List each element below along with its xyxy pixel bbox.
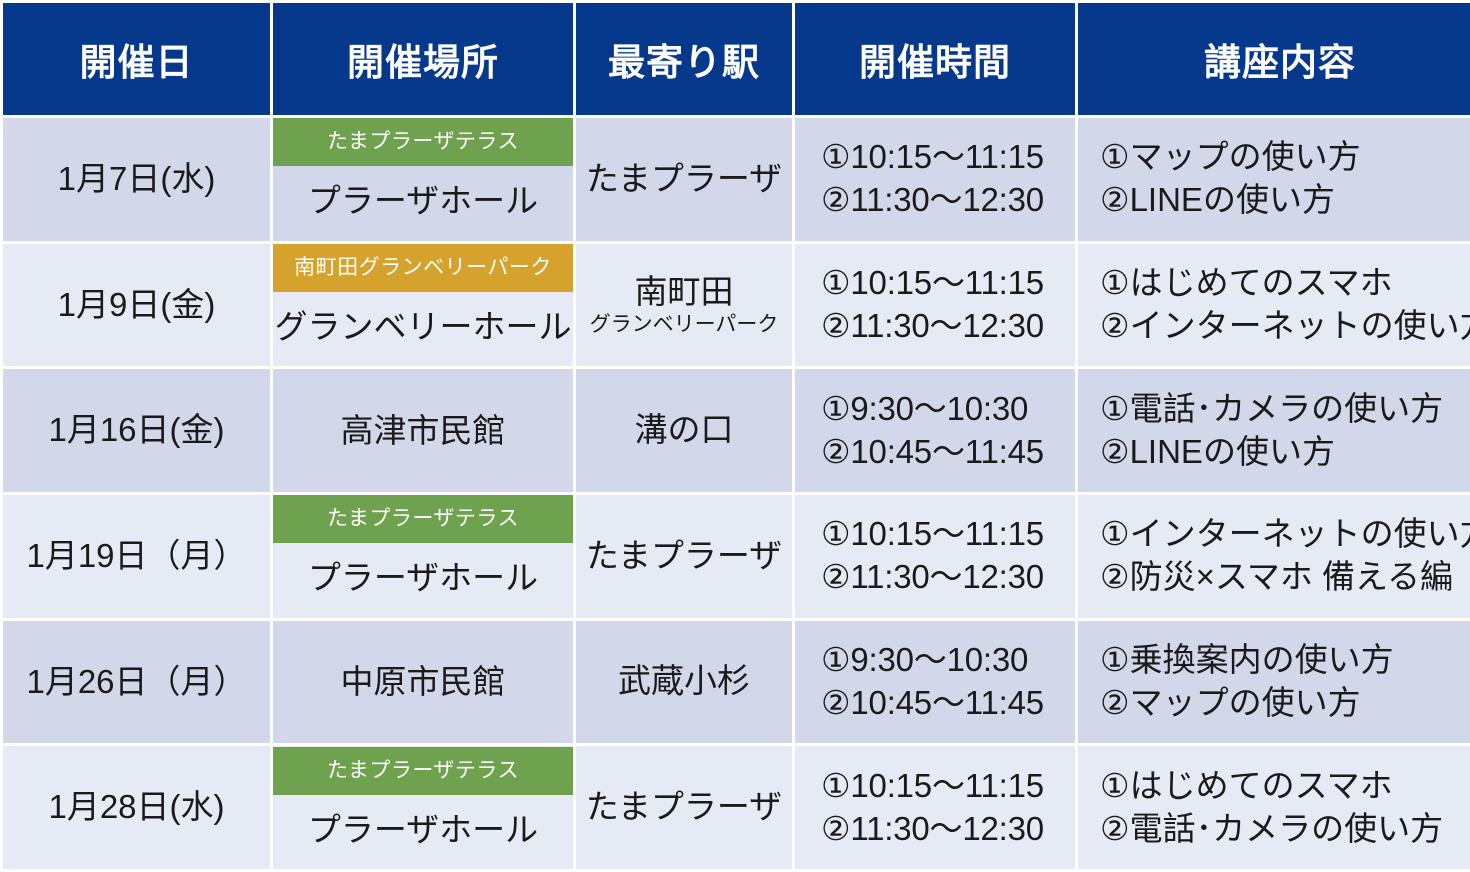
content-item-2: ②LINEの使い方 xyxy=(1100,431,1470,474)
station-name: 武蔵小杉 xyxy=(618,663,750,700)
station-name: たまプラーザ xyxy=(586,538,782,575)
cell-venue: 高津市民館 xyxy=(273,369,573,492)
cell-time: ①10:15〜11:15②11:30〜12:30 xyxy=(795,495,1075,618)
station-wrapper: 溝の口 xyxy=(576,370,792,492)
content-item-2: ②LINEの使い方 xyxy=(1100,179,1470,222)
content-item-1: ①はじめてのスマホ xyxy=(1100,765,1470,808)
cell-time: ①10:15〜11:15②11:30〜12:30 xyxy=(795,244,1075,367)
cell-time: ①10:15〜11:15②11:30〜12:30 xyxy=(795,118,1075,241)
cell-date: 1月19日（月） xyxy=(3,495,270,618)
content-lines: ①電話･カメラの使い方②LINEの使い方 xyxy=(1078,370,1470,492)
content-item-1: ①はじめてのスマホ xyxy=(1100,262,1470,305)
content-item-2: ②電話･カメラの使い方 xyxy=(1100,808,1470,851)
content-lines: ①乗換案内の使い方②マップの使い方 xyxy=(1078,621,1470,743)
time-slot-2: ②11:30〜12:30 xyxy=(821,305,1075,348)
table-row: 1月16日(金)高津市民館溝の口①9:30〜10:30②10:45〜11:45①… xyxy=(3,369,1470,492)
table-row: 1月19日（月）たまプラーザテラスプラーザホールたまプラーザ①10:15〜11:… xyxy=(3,495,1470,618)
venue-name: 中原市民館 xyxy=(273,621,573,743)
table-row: 1月26日（月）中原市民館武蔵小杉①9:30〜10:30②10:45〜11:45… xyxy=(3,621,1470,744)
venue-name: 高津市民館 xyxy=(273,370,573,492)
station-wrapper: たまプラーザ xyxy=(576,495,792,617)
time-slot-1: ①10:15〜11:15 xyxy=(821,513,1075,556)
date-text: 1月19日（月） xyxy=(26,537,246,574)
venue-name: プラーザホール xyxy=(273,795,573,869)
cell-content: ①電話･カメラの使い方②LINEの使い方 xyxy=(1078,369,1470,492)
column-header-station: 最寄り駅 xyxy=(576,3,792,115)
venue-wrapper: たまプラーザテラスプラーザホール xyxy=(273,495,573,617)
venue-name: プラーザホール xyxy=(273,543,573,617)
cell-venue: 中原市民館 xyxy=(273,621,573,744)
cell-date: 1月28日(水) xyxy=(3,746,270,869)
cell-station: 南町田グランベリーパーク xyxy=(576,244,792,367)
content-lines: ①インターネットの使い方②防災×スマホ 備える編 xyxy=(1078,495,1470,617)
table-row: 1月9日(金)南町田グランベリーパークグランベリーホール南町田グランベリーパーク… xyxy=(3,244,1470,367)
cell-content: ①はじめてのスマホ②インターネットの使い方 xyxy=(1078,244,1470,367)
table-body: 1月7日(水)たまプラーザテラスプラーザホールたまプラーザ①10:15〜11:1… xyxy=(3,118,1470,869)
content-item-2: ②防災×スマホ 備える編 xyxy=(1100,556,1470,599)
cell-venue: たまプラーザテラスプラーザホール xyxy=(273,495,573,618)
cell-venue: たまプラーザテラスプラーザホール xyxy=(273,746,573,869)
station-name: たまプラーザ xyxy=(586,161,782,198)
content-item-2: ②インターネットの使い方 xyxy=(1100,305,1470,348)
cell-station: たまプラーザ xyxy=(576,746,792,869)
station-name: たまプラーザ xyxy=(586,789,782,826)
venue-banner: たまプラーザテラス xyxy=(273,495,573,543)
cell-time: ①9:30〜10:30②10:45〜11:45 xyxy=(795,621,1075,744)
time-slot-2: ②10:45〜11:45 xyxy=(821,431,1075,474)
cell-date: 1月26日（月） xyxy=(3,621,270,744)
cell-station: 溝の口 xyxy=(576,369,792,492)
station-wrapper: 武蔵小杉 xyxy=(576,621,792,743)
date-text: 1月26日（月） xyxy=(26,663,246,700)
cell-time: ①10:15〜11:15②11:30〜12:30 xyxy=(795,746,1075,869)
time-slot-1: ①10:15〜11:15 xyxy=(821,262,1075,305)
content-item-1: ①電話･カメラの使い方 xyxy=(1100,388,1470,431)
content-item-1: ①乗換案内の使い方 xyxy=(1100,639,1470,682)
cell-station: たまプラーザ xyxy=(576,495,792,618)
cell-station: たまプラーザ xyxy=(576,118,792,241)
time-lines: ①10:15〜11:15②11:30〜12:30 xyxy=(795,495,1075,617)
cell-date: 1月9日(金) xyxy=(3,244,270,367)
station-wrapper: たまプラーザ xyxy=(576,747,792,869)
time-slot-1: ①9:30〜10:30 xyxy=(821,388,1075,431)
venue-name: プラーザホール xyxy=(273,166,573,240)
content-lines: ①はじめてのスマホ②インターネットの使い方 xyxy=(1078,244,1470,366)
time-lines: ①10:15〜11:15②11:30〜12:30 xyxy=(795,747,1075,869)
cell-date: 1月7日(水) xyxy=(3,118,270,241)
cell-time: ①9:30〜10:30②10:45〜11:45 xyxy=(795,369,1075,492)
date-text: 1月28日(水) xyxy=(48,788,224,825)
time-slot-1: ①9:30〜10:30 xyxy=(821,639,1075,682)
venue-banner: 南町田グランベリーパーク xyxy=(273,244,573,292)
time-lines: ①9:30〜10:30②10:45〜11:45 xyxy=(795,370,1075,492)
column-header-venue: 開催場所 xyxy=(273,3,573,115)
table-row: 1月28日(水)たまプラーザテラスプラーザホールたまプラーザ①10:15〜11:… xyxy=(3,746,1470,869)
venue-name: グランベリーホール xyxy=(273,292,573,366)
content-item-2: ②マップの使い方 xyxy=(1100,682,1470,725)
date-text: 1月9日(金) xyxy=(58,286,216,323)
cell-content: ①乗換案内の使い方②マップの使い方 xyxy=(1078,621,1470,744)
time-slot-2: ②11:30〜12:30 xyxy=(821,179,1075,222)
table-row: 1月7日(水)たまプラーザテラスプラーザホールたまプラーザ①10:15〜11:1… xyxy=(3,118,1470,241)
station-wrapper: 南町田グランベリーパーク xyxy=(576,244,792,366)
cell-venue: 南町田グランベリーパークグランベリーホール xyxy=(273,244,573,367)
time-lines: ①9:30〜10:30②10:45〜11:45 xyxy=(795,621,1075,743)
time-slot-2: ②11:30〜12:30 xyxy=(821,808,1075,851)
content-lines: ①マップの使い方②LINEの使い方 xyxy=(1078,118,1470,240)
venue-banner: たまプラーザテラス xyxy=(273,747,573,795)
column-header-time: 開催時間 xyxy=(795,3,1075,115)
cell-station: 武蔵小杉 xyxy=(576,621,792,744)
content-item-1: ①マップの使い方 xyxy=(1100,136,1470,179)
time-slot-1: ①10:15〜11:15 xyxy=(821,765,1075,808)
header-row: 開催日 開催場所 最寄り駅 開催時間 講座内容 xyxy=(3,3,1470,115)
station-subname: グランベリーパーク xyxy=(590,313,779,337)
venue-wrapper: 高津市民館 xyxy=(273,370,573,492)
venue-wrapper: たまプラーザテラスプラーザホール xyxy=(273,118,573,240)
cell-content: ①はじめてのスマホ②電話･カメラの使い方 xyxy=(1078,746,1470,869)
cell-date: 1月16日(金) xyxy=(3,369,270,492)
cell-content: ①マップの使い方②LINEの使い方 xyxy=(1078,118,1470,241)
content-lines: ①はじめてのスマホ②電話･カメラの使い方 xyxy=(1078,747,1470,869)
date-text: 1月16日(金) xyxy=(48,411,224,448)
column-header-content: 講座内容 xyxy=(1078,3,1470,115)
station-name: 南町田 xyxy=(635,274,734,311)
time-lines: ①10:15〜11:15②11:30〜12:30 xyxy=(795,118,1075,240)
time-slot-1: ①10:15〜11:15 xyxy=(821,136,1075,179)
station-name: 溝の口 xyxy=(635,412,734,449)
column-header-date: 開催日 xyxy=(3,3,270,115)
schedule-table: 開催日 開催場所 最寄り駅 開催時間 講座内容 1月7日(水)たまプラーザテラス… xyxy=(0,0,1470,872)
cell-venue: たまプラーザテラスプラーザホール xyxy=(273,118,573,241)
venue-wrapper: 南町田グランベリーパークグランベリーホール xyxy=(273,244,573,366)
table-header: 開催日 開催場所 最寄り駅 開催時間 講座内容 xyxy=(3,3,1470,115)
venue-wrapper: 中原市民館 xyxy=(273,621,573,743)
time-slot-2: ②10:45〜11:45 xyxy=(821,682,1075,725)
cell-content: ①インターネットの使い方②防災×スマホ 備える編 xyxy=(1078,495,1470,618)
venue-wrapper: たまプラーザテラスプラーザホール xyxy=(273,747,573,869)
time-slot-2: ②11:30〜12:30 xyxy=(821,556,1075,599)
content-item-1: ①インターネットの使い方 xyxy=(1100,513,1470,556)
date-text: 1月7日(水) xyxy=(58,160,216,197)
time-lines: ①10:15〜11:15②11:30〜12:30 xyxy=(795,244,1075,366)
venue-banner: たまプラーザテラス xyxy=(273,118,573,166)
station-wrapper: たまプラーザ xyxy=(576,118,792,240)
